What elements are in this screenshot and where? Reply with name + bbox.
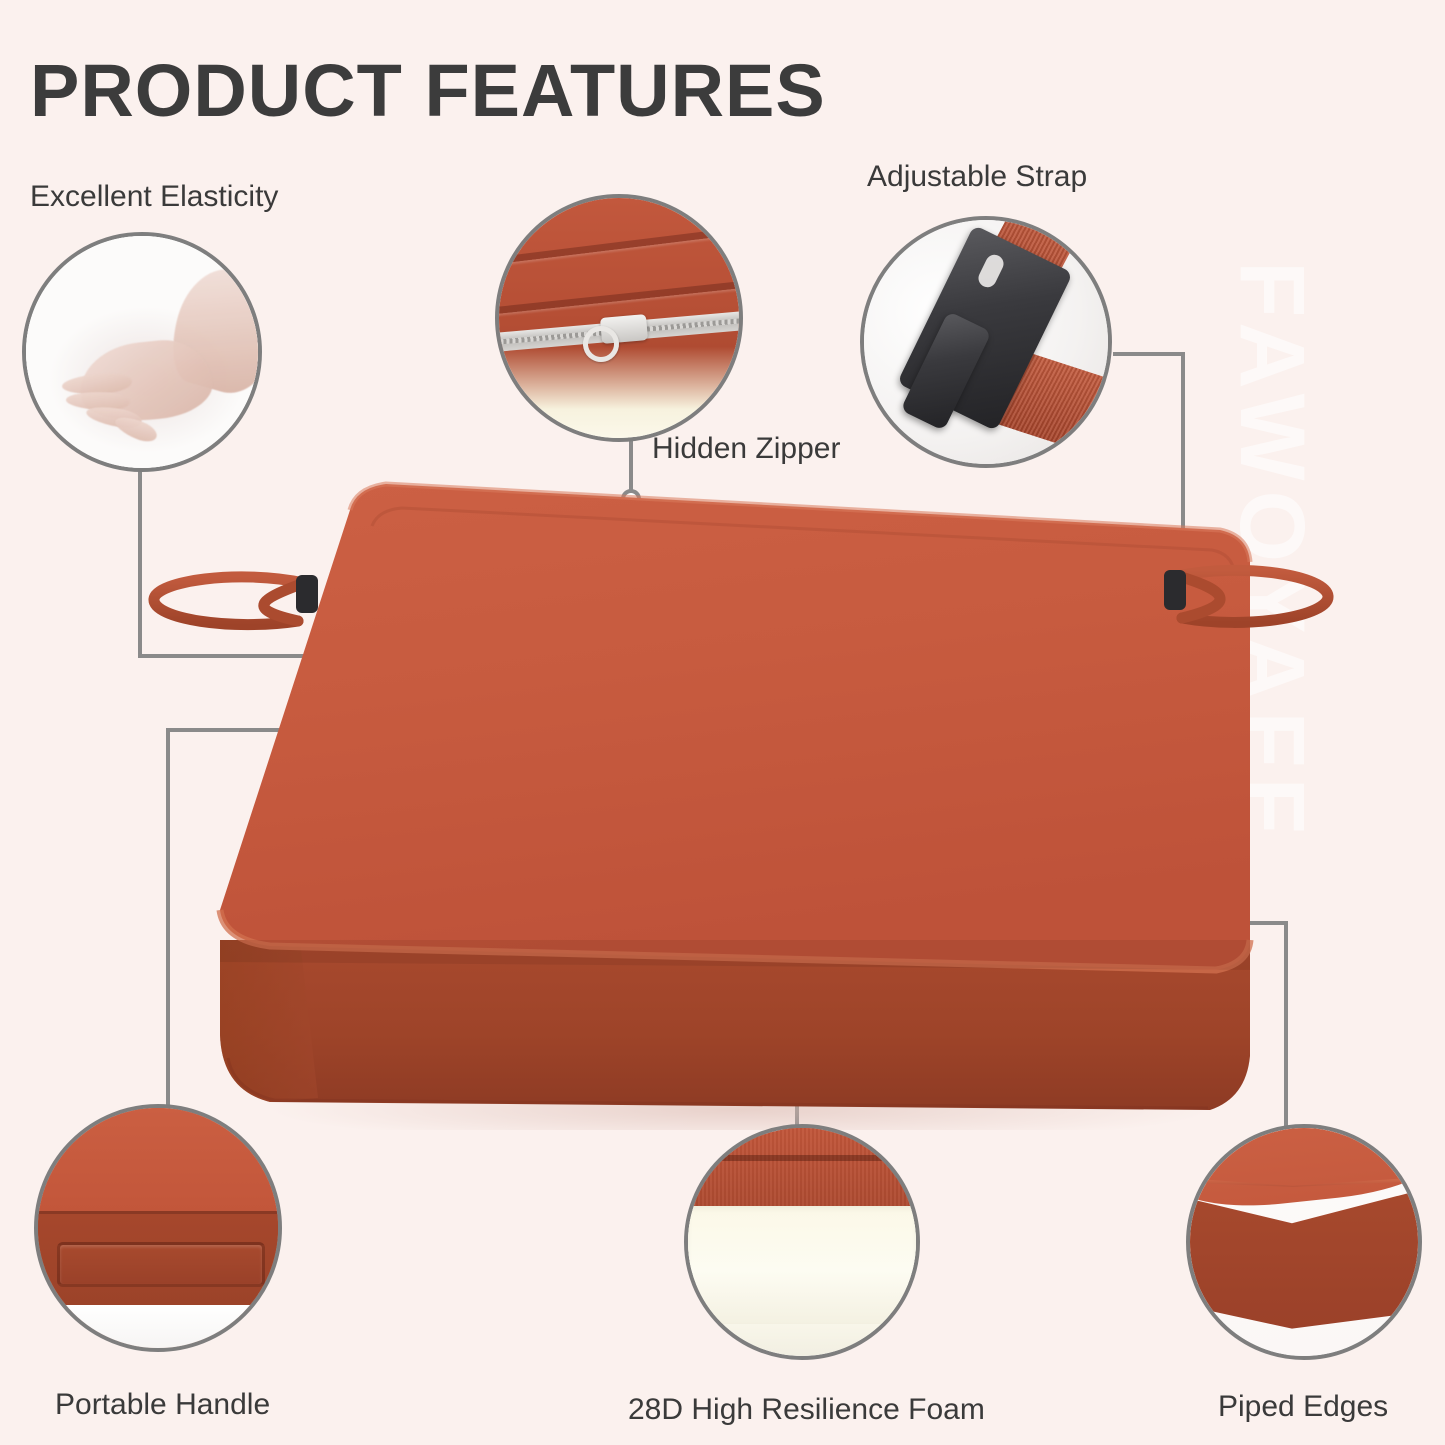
- callout-piped-edges[interactable]: [1186, 1124, 1422, 1360]
- label-high-resilience-foam: 28D High Resilience Foam: [628, 1393, 985, 1427]
- connector-elasticity-vertical: [138, 468, 142, 658]
- handle-closeup-icon: [38, 1108, 278, 1348]
- hand-pressing-foam-icon: [26, 236, 258, 468]
- connector-strap-horizontal: [1113, 352, 1185, 356]
- callout-adjustable-strap[interactable]: [860, 216, 1112, 468]
- left-handle-strap: [148, 565, 328, 639]
- callout-excellent-elasticity[interactable]: [22, 232, 262, 472]
- label-adjustable-strap: Adjustable Strap: [867, 160, 1087, 194]
- callout-portable-handle[interactable]: [34, 1104, 282, 1352]
- label-portable-handle: Portable Handle: [55, 1388, 270, 1422]
- piped-corner-icon: [1190, 1128, 1418, 1356]
- infographic-canvas: FAWOYAFF PRODUCT FEATURES Excellent Elas…: [0, 0, 1445, 1445]
- page-title: PRODUCT FEATURES: [30, 48, 826, 133]
- label-piped-edges: Piped Edges: [1218, 1390, 1388, 1424]
- zipper-closeup-icon: [499, 198, 739, 438]
- callout-hidden-zipper[interactable]: [495, 194, 743, 442]
- foam-cross-section-icon: [688, 1128, 916, 1356]
- right-handle-strap: [1148, 556, 1338, 640]
- buckle-strap-icon: [864, 220, 1108, 464]
- label-excellent-elasticity: Excellent Elasticity: [30, 180, 278, 214]
- callout-high-resilience-foam[interactable]: [684, 1124, 920, 1360]
